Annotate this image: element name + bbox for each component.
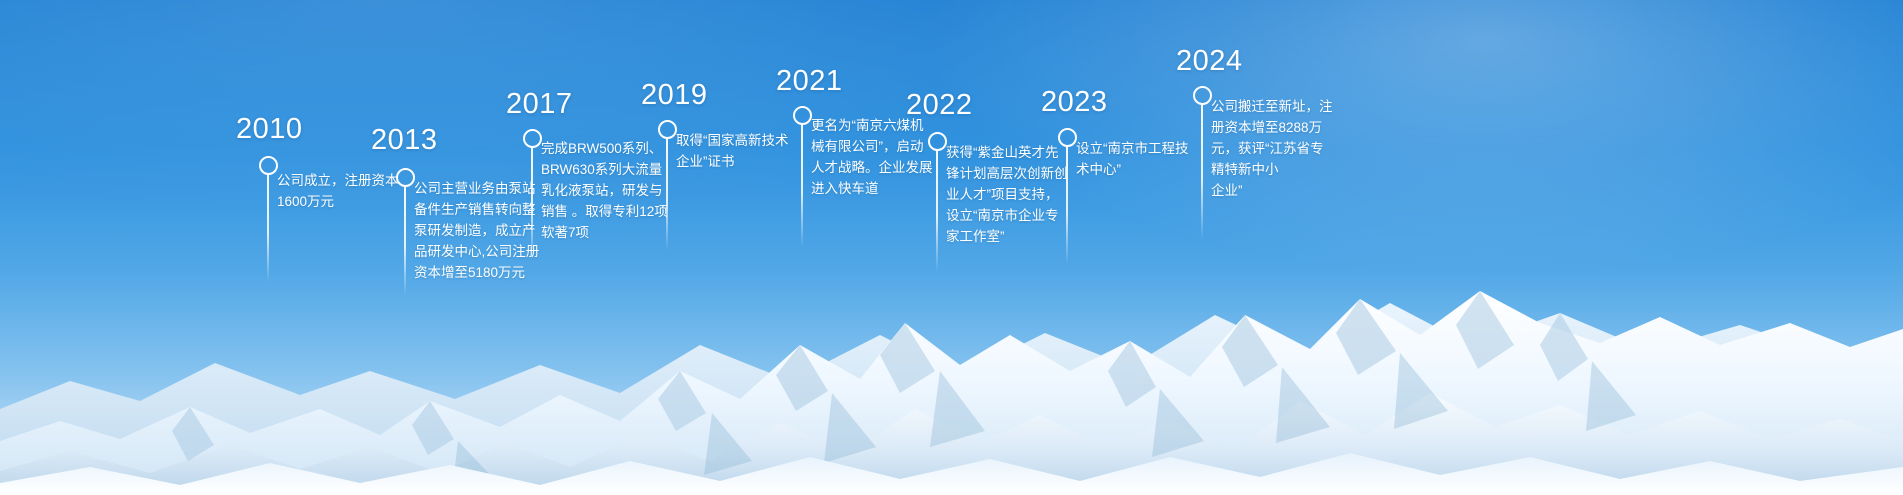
event-year-2022: 2022: [906, 89, 973, 122]
timeline-infographic: 2010 公司成立，注册资本 1600万元 2013 公司主营业务由泵站 备件生…: [0, 0, 1903, 495]
event-year-2024: 2024: [1176, 45, 1243, 78]
event-marker-2021: [793, 106, 812, 125]
event-description-2017: 完成BRW500系列、 BRW630系列大流量 乳化液泵站，研发与 销售 。取得…: [541, 138, 677, 243]
event-stem-2019: [666, 138, 668, 250]
event-marker-2023: [1058, 128, 1077, 147]
event-year-2017: 2017: [506, 88, 573, 121]
event-marker-2013: [396, 168, 415, 187]
event-marker-2010: [259, 156, 278, 175]
event-description-2019: 取得“国家高新技术 企业”证书: [676, 130, 806, 172]
event-description-2023: 设立“南京市工程技 术中心”: [1076, 138, 1208, 180]
event-description-2022: 获得“紫金山英才先 锋计划高层次创新创 业人才”项目支持， 设立“南京市企业专 …: [946, 142, 1074, 247]
event-marker-2019: [658, 120, 677, 139]
event-year-2019: 2019: [641, 79, 708, 112]
event-description-2024: 公司搬迁至新址，注 册资本增至8288万 元，获评“江苏省专 精特新中小 企业”: [1211, 96, 1345, 201]
event-description-2021: 更名为“南京六煤机 械有限公司”，启动 人才战略。企业发展 进入快车道: [811, 115, 939, 199]
event-marker-2022: [928, 132, 947, 151]
event-stem-2023: [1066, 146, 1068, 264]
event-stem-2022: [936, 150, 938, 272]
event-year-2013: 2013: [371, 124, 438, 157]
event-stem-2024: [1201, 104, 1203, 240]
event-description-2013: 公司主营业务由泵站 备件生产销售转向整 泵研发制造，成立产 品研发中心,公司注册…: [414, 178, 542, 283]
event-stem-2021: [801, 124, 803, 248]
event-stem-2017: [531, 147, 533, 259]
event-year-2021: 2021: [776, 65, 843, 98]
event-marker-2017: [523, 129, 542, 148]
event-stem-2010: [267, 174, 269, 282]
event-year-2010: 2010: [236, 113, 303, 146]
event-marker-2024: [1193, 86, 1212, 105]
event-stem-2013: [404, 186, 406, 296]
event-year-2023: 2023: [1041, 86, 1108, 119]
